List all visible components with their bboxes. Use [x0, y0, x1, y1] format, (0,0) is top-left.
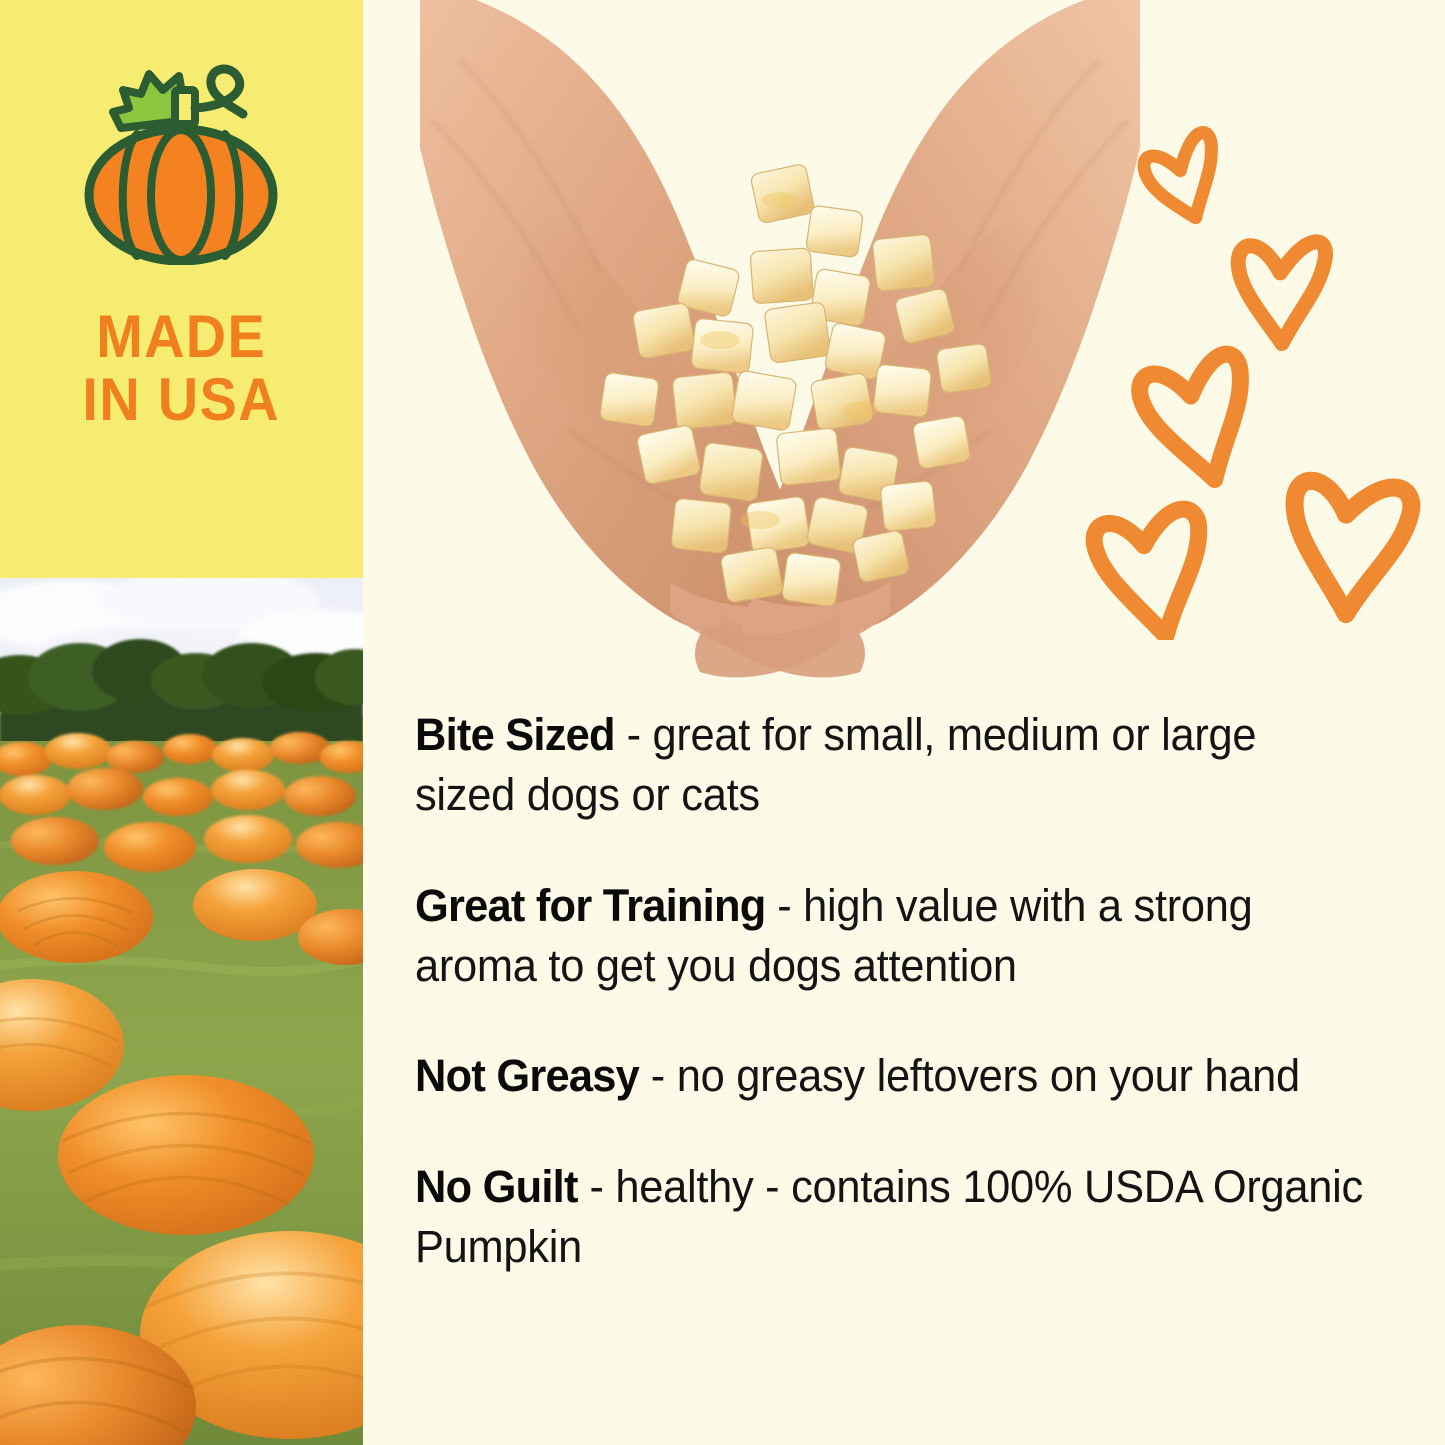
hands-holding-treats-photo — [420, 0, 1140, 690]
feature-body: - no greasy leftovers on your hand — [639, 1050, 1300, 1101]
feature-great-for-training: Great for Training - high value with a s… — [415, 876, 1366, 996]
product-infographic: MADE IN USA — [0, 0, 1445, 1445]
badge-line-2: IN USA — [83, 368, 280, 431]
badge-line-1: MADE — [97, 303, 267, 370]
feature-lead: Not Greasy — [415, 1050, 639, 1101]
feature-no-guilt: No Guilt - healthy - contains 100% USDA … — [415, 1157, 1366, 1277]
feature-lead: Bite Sized — [415, 709, 615, 760]
heart-icon-1 — [1140, 131, 1224, 225]
made-in-usa-text: MADE IN USA — [83, 305, 280, 431]
pumpkin-patch-photo — [0, 545, 363, 1445]
feature-bite-sized: Bite Sized - great for small, medium or … — [415, 705, 1366, 825]
heart-icon-5 — [1092, 508, 1208, 640]
hands-artwork — [420, 0, 1140, 690]
left-column: MADE IN USA — [0, 0, 363, 1445]
pumpkin-patch-artwork — [0, 545, 363, 1445]
heart-icon-2 — [1230, 234, 1327, 347]
heart-icon-4 — [1277, 471, 1415, 622]
badge-content: MADE IN USA — [0, 0, 363, 545]
heart-icon-3 — [1136, 353, 1254, 489]
feature-lead: No Guilt — [415, 1161, 578, 1212]
feature-lead: Great for Training — [415, 880, 765, 931]
made-in-usa-badge-panel: MADE IN USA — [0, 0, 363, 578]
feature-not-greasy: Not Greasy - no greasy leftovers on your… — [415, 1046, 1366, 1106]
feature-list: Bite Sized - great for small, medium or … — [415, 705, 1400, 1277]
hand-drawn-hearts — [1085, 95, 1445, 640]
zigzag-divider-icon — [0, 545, 363, 579]
hearts-artwork — [1085, 95, 1445, 640]
pumpkin-icon — [79, 50, 284, 265]
